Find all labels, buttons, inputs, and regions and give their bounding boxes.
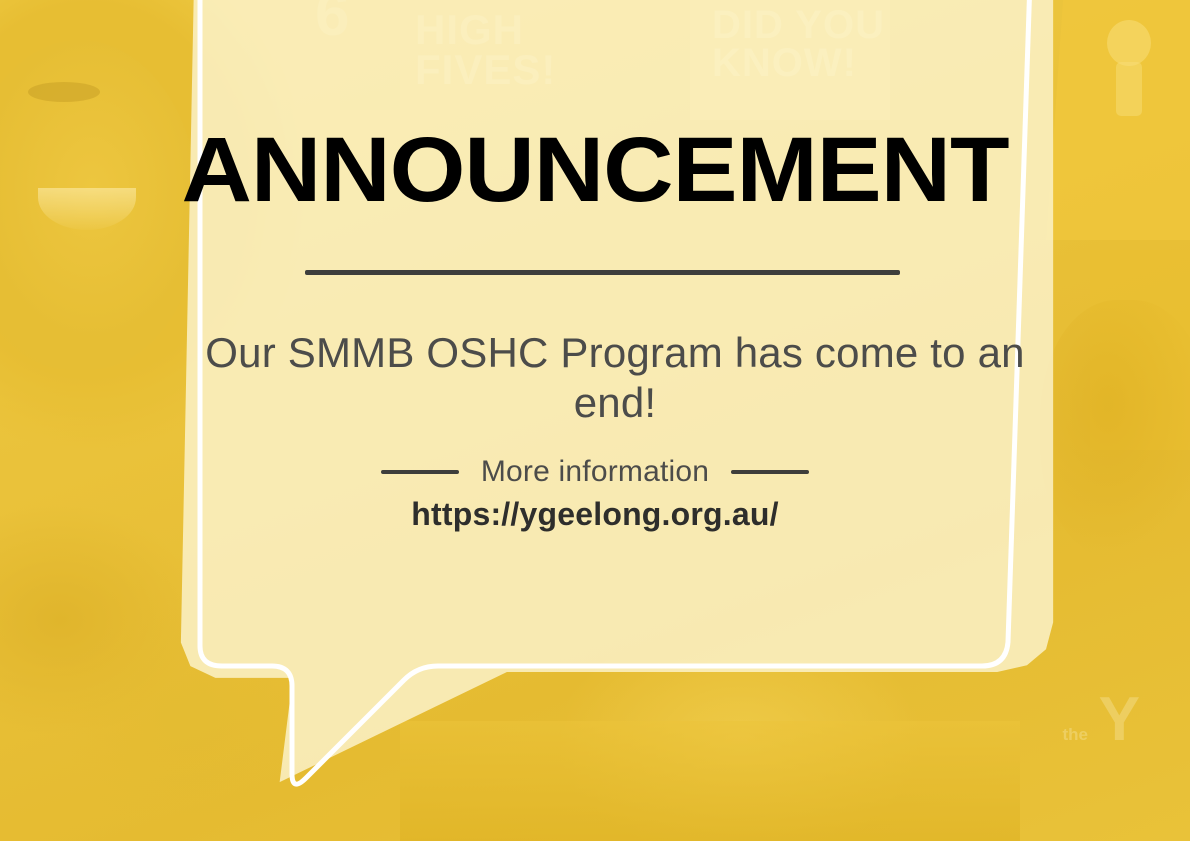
dash-left: [381, 470, 459, 474]
more-information-row: More information: [0, 455, 1190, 489]
page-title: ANNOUNCEMENT: [0, 124, 1190, 216]
title-divider: [305, 270, 900, 275]
more-information-label: More information: [481, 455, 709, 489]
announcement-message: Our SMMB OSHC Program has come to an end…: [180, 328, 1050, 427]
dash-right: [731, 470, 809, 474]
announcement-poster: 6 HIGH FIVES! DID YOU KNOW! Y the ANNOUN…: [0, 0, 1190, 841]
website-url[interactable]: https://ygeelong.org.au/: [0, 496, 1190, 533]
